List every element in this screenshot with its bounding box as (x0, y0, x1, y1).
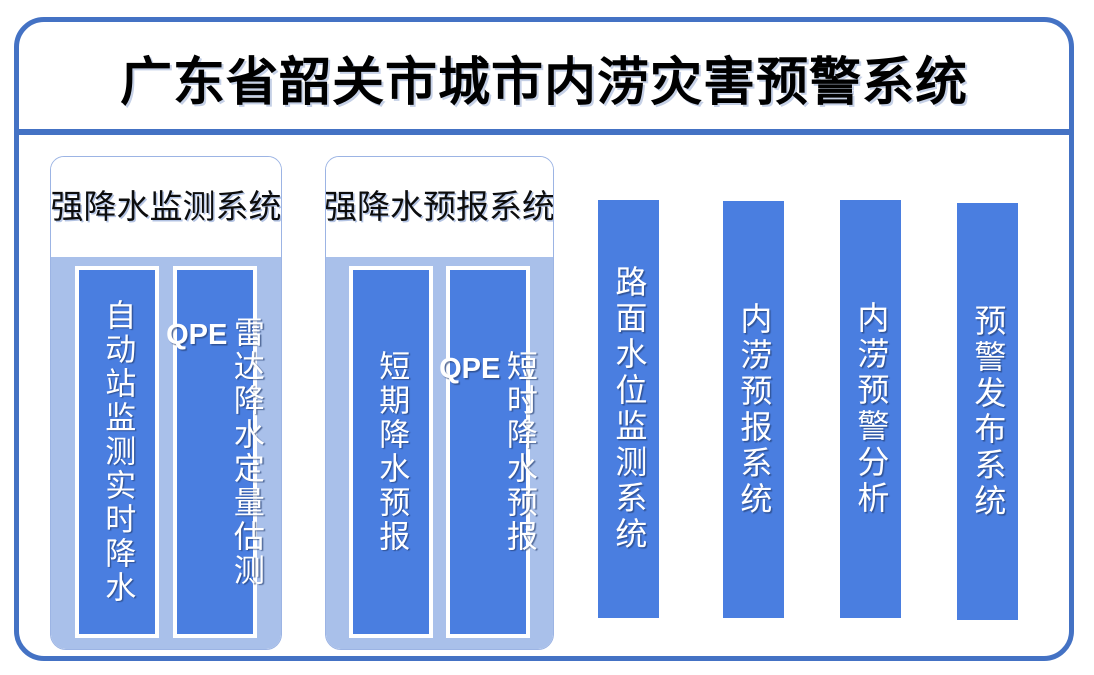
panel-header-rainfall-forecast: 强降水预报系统 (326, 157, 553, 257)
bar-short-term-rainfall-forecast[interactable]: 短期降水预报 (349, 266, 433, 638)
page-title-text: 广东省韶关市城市内涝灾害预警系统 (120, 40, 968, 115)
bar-label-cjk: 短期降水预报 (374, 350, 409, 554)
diagram-canvas: 广东省韶关市城市内涝灾害预警系统 强降水监测系统 自动站监测实时降水 雷达降水定… (0, 0, 1094, 675)
panel-rainfall-monitoring[interactable]: 强降水监测系统 自动站监测实时降水 雷达降水定量估测 QPE (50, 156, 282, 650)
column-road-water-level-monitoring[interactable]: 路面水位监测系统 (598, 200, 659, 618)
bar-label: 短时降水预报 QPE (439, 350, 537, 554)
bar-label: 自动站监测实时降水 (99, 299, 136, 605)
bar-label: 雷达降水定量估测 QPE (166, 316, 264, 588)
column-label: 预警发布系统 (969, 304, 1007, 520)
panel-body-rainfall-monitoring: 自动站监测实时降水 雷达降水定量估测 QPE (51, 257, 281, 649)
bar-label-latin: QPE (439, 352, 500, 386)
page-title: 广东省韶关市城市内涝灾害预警系统 (19, 22, 1069, 132)
title-divider (19, 129, 1069, 135)
column-label: 路面水位监测系统 (610, 265, 648, 553)
bar-auto-station-realtime-rainfall[interactable]: 自动站监测实时降水 (75, 266, 159, 638)
bar-label-cjk: 自动站监测实时降水 (100, 299, 135, 605)
panel-body-rainfall-forecast: 短期降水预报 短时降水预报 QPE (326, 257, 553, 649)
bar-nowcast-rainfall-qpe[interactable]: 短时降水预报 QPE (446, 266, 530, 638)
panel-header-rainfall-monitoring: 强降水监测系统 (51, 157, 281, 257)
bar-label-cjk: 短时降水预报 (502, 350, 537, 554)
panel-header-label: 强降水预报系统 (325, 191, 554, 226)
panel-rainfall-forecast[interactable]: 强降水预报系统 短期降水预报 短时降水预报 QPE (325, 156, 554, 650)
column-waterlogging-warning-analysis[interactable]: 内涝预警分析 (840, 200, 901, 618)
bar-radar-qpe[interactable]: 雷达降水定量估测 QPE (173, 266, 257, 638)
column-waterlogging-forecast[interactable]: 内涝预报系统 (723, 201, 784, 618)
bar-label: 短期降水预报 (373, 350, 410, 554)
column-label: 内涝预警分析 (852, 301, 890, 517)
column-warning-release[interactable]: 预警发布系统 (957, 203, 1018, 620)
panel-header-label: 强降水监测系统 (51, 191, 282, 226)
bar-label-cjk: 雷达降水定量估测 (229, 316, 264, 588)
column-label: 内涝预报系统 (735, 302, 773, 518)
bar-label-latin: QPE (166, 318, 227, 352)
